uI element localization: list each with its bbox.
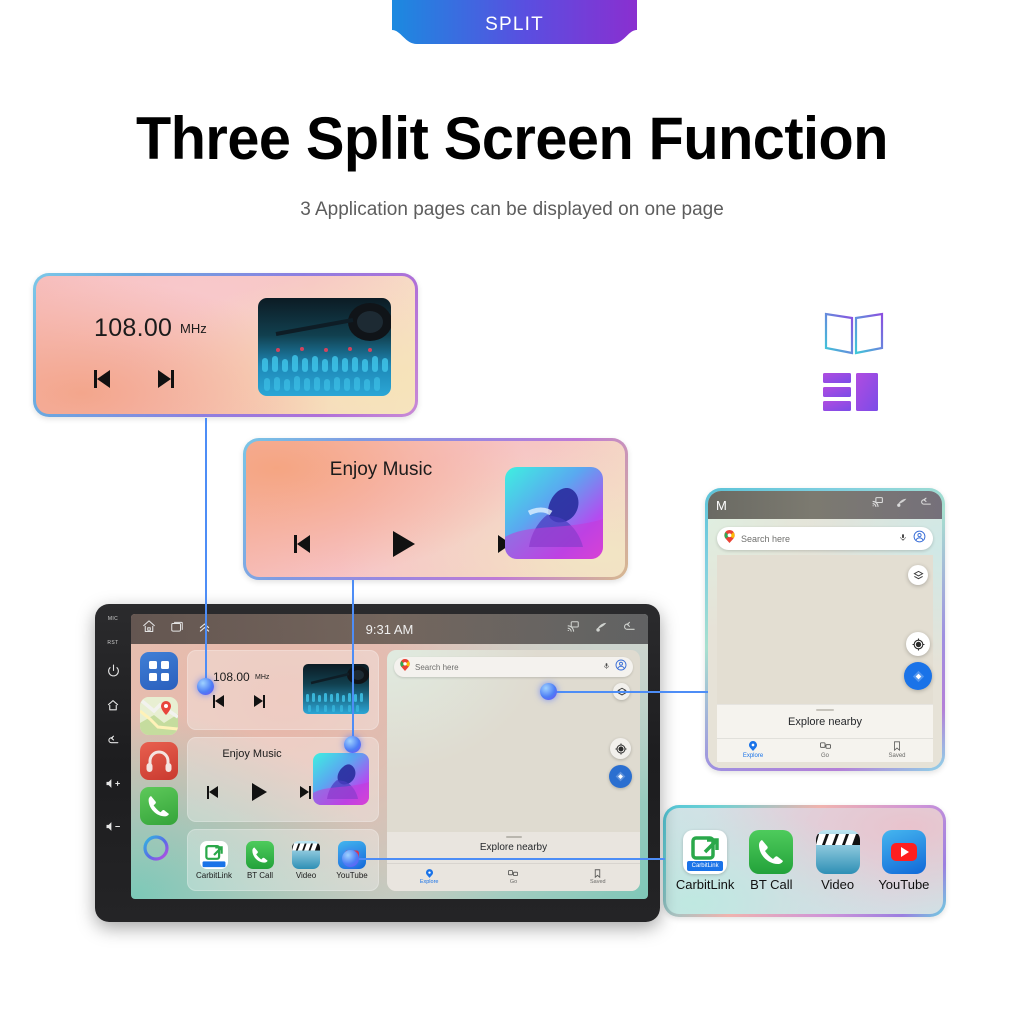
rst-label: RST [107,640,118,646]
app-dock-card[interactable]: CarbitLink CarbitLink BT Call [663,805,946,917]
page-subtitle: 3 Application pages can be displayed on … [0,199,1024,221]
audio-mixer-photo [303,664,369,714]
volume-up-icon[interactable] [103,777,123,790]
apps-icon[interactable] [140,652,178,690]
maps-icon[interactable] [140,697,178,735]
explore-nearby-sheet[interactable]: Explore nearby [717,704,933,738]
dock-app-youtube[interactable]: YouTube [873,830,935,892]
head-unit-bezel-buttons[interactable]: MIC RST [95,604,131,922]
callout-dot-map [540,683,557,700]
my-location-icon[interactable] [906,632,930,656]
connector-line-radio [205,418,207,686]
connector-line-map [548,691,708,693]
phone-icon [246,841,274,869]
map-tab-saved-label: Saved [590,879,606,885]
head-unit-radio-pane[interactable]: 108.00 MHz [187,650,379,730]
skip-next-icon[interactable] [154,369,174,389]
mic-icon[interactable] [899,530,907,548]
split-banner: SPLIT [392,0,637,52]
youtube-icon [882,830,926,874]
volume-down-icon[interactable] [103,820,123,833]
singer-artwork [505,467,603,559]
music-widget-card[interactable]: Enjoy Music [243,438,628,580]
bookmark-icon [861,741,933,752]
map-search-bar[interactable]: Search here [394,657,633,677]
map-header-title: M [716,498,861,513]
map-search-placeholder: Search here [415,663,598,672]
account-icon[interactable] [913,530,926,548]
dual-pane-book-icon [820,312,888,356]
sheet-grabber[interactable] [816,709,834,711]
dock-app-label: BT Call [740,877,802,892]
callout-dot-music [344,736,361,753]
home-icon[interactable] [106,699,120,712]
skip-previous-icon[interactable] [94,369,114,389]
commute-icon [471,869,555,879]
navigate-icon[interactable] [609,765,632,788]
maps-pin-icon [724,530,735,548]
map-tab-go-label: Go [821,753,829,759]
commute-icon [789,741,861,752]
singer-artwork [313,753,369,805]
map-bottom-tabs[interactable]: Explore Go Saved [717,738,933,762]
back-icon[interactable] [106,734,121,747]
account-icon[interactable] [615,658,627,676]
dock-app-btcall[interactable]: BT Call [239,841,281,880]
map-canvas[interactable] [717,555,933,704]
cast-icon[interactable] [565,620,581,639]
music-icon[interactable] [140,742,178,780]
radio-frequency: 108.00 [213,670,250,684]
mic-label: MIC [108,616,118,622]
audio-mixer-photo [258,298,391,396]
dock-app-btcall[interactable]: BT Call [740,830,802,892]
carbitlink-badge: CarbitLink [687,861,723,871]
split-layout-icon [823,373,878,413]
dock-app-label: Video [285,871,327,880]
bookmark-icon [556,869,640,879]
head-unit-screen[interactable]: 9:31 AM [131,614,648,899]
home-icon[interactable] [141,619,157,639]
dock-app-carbitlink[interactable]: CarbitLink [193,841,235,880]
dock-app-label: CarbitLink [674,877,736,892]
head-unit-map-pane[interactable]: Search here [387,650,640,891]
map-tab-explore[interactable]: Explore [717,741,789,760]
skip-previous-icon[interactable] [207,785,222,800]
skip-next-icon[interactable] [296,785,311,800]
power-icon[interactable] [107,664,120,677]
maps-pin-icon [400,658,410,676]
phone-icon[interactable] [140,787,178,825]
map-tab-saved[interactable]: Saved [861,741,933,760]
dock-app-video[interactable]: Video [807,830,869,892]
dock-app-label: YouTube [873,877,935,892]
carbitlink-icon: CarbitLink [683,830,727,874]
youtube-play-badge [891,843,917,861]
radio-frequency-unit: MHz [180,321,207,336]
dock-app-label: CarbitLink [193,871,235,880]
back-icon[interactable] [621,620,638,639]
clapperboard-icon [292,841,320,869]
map-search-placeholder: Search here [741,534,893,544]
map-widget-card[interactable]: M [705,488,945,771]
hotspot-icon[interactable] [894,496,909,514]
my-location-icon[interactable] [610,738,631,759]
layers-icon[interactable] [908,565,928,585]
map-tab-explore-label: Explore [420,879,439,885]
map-tab-saved[interactable]: Saved [556,869,640,886]
assistant-ring-icon[interactable] [140,832,178,870]
map-card-header: M [708,491,942,519]
callout-dot-dock [342,850,359,867]
pin-icon [717,741,789,752]
mic-icon[interactable] [603,658,610,676]
navigate-icon[interactable] [904,662,932,690]
pin-icon [387,869,471,879]
explore-nearby-label: Explore nearby [788,716,862,728]
dock-app-video[interactable]: Video [285,841,327,880]
connector-line-dock [350,858,665,860]
clapperboard-icon [816,830,860,874]
sheet-grabber[interactable] [506,836,522,838]
callout-dot-radio [197,678,214,695]
play-icon[interactable] [393,531,415,557]
radio-frequency: 108.00 [94,314,172,343]
skip-next-icon[interactable] [250,694,265,709]
radio-widget-card[interactable]: 108.00 MHz [33,273,418,417]
map-tab-go[interactable]: Go [789,741,861,760]
page-title: Three Split Screen Function [20,104,1003,173]
play-icon[interactable] [252,783,267,801]
map-bottom-tabs[interactable]: Explore Go [387,863,640,891]
car-head-unit[interactable]: MIC RST [95,604,660,922]
dock-app-label: YouTube [331,871,373,880]
connector-line-music [352,580,354,745]
banner-label: SPLIT [392,14,637,36]
hotspot-icon[interactable] [593,620,609,639]
skip-previous-icon[interactable] [294,534,314,554]
recents-icon[interactable] [169,620,185,639]
music-title: Enjoy Music [246,459,516,481]
dock-app-label: BT Call [239,871,281,880]
skip-previous-icon[interactable] [213,694,228,709]
map-tab-explore-label: Explore [743,753,763,759]
carbitlink-icon [200,841,228,869]
map-tab-go-label: Go [510,879,517,885]
radio-frequency-unit: MHz [255,674,269,681]
map-tab-saved-label: Saved [888,753,905,759]
head-unit-sidebar[interactable] [131,644,187,899]
map-tab-go[interactable]: Go [471,869,555,886]
music-title: Enjoy Music [187,748,317,760]
cast-icon[interactable] [870,496,885,514]
explore-nearby-label: Explore nearby [480,842,547,853]
map-tab-explore[interactable]: Explore [387,869,471,886]
dock-app-carbitlink[interactable]: CarbitLink CarbitLink [674,830,736,892]
map-search-bar[interactable]: Search here [717,527,933,550]
head-unit-status-bar[interactable]: 9:31 AM [131,614,648,644]
dock-app-label: Video [807,877,869,892]
phone-icon [749,830,793,874]
back-icon[interactable] [918,496,934,514]
